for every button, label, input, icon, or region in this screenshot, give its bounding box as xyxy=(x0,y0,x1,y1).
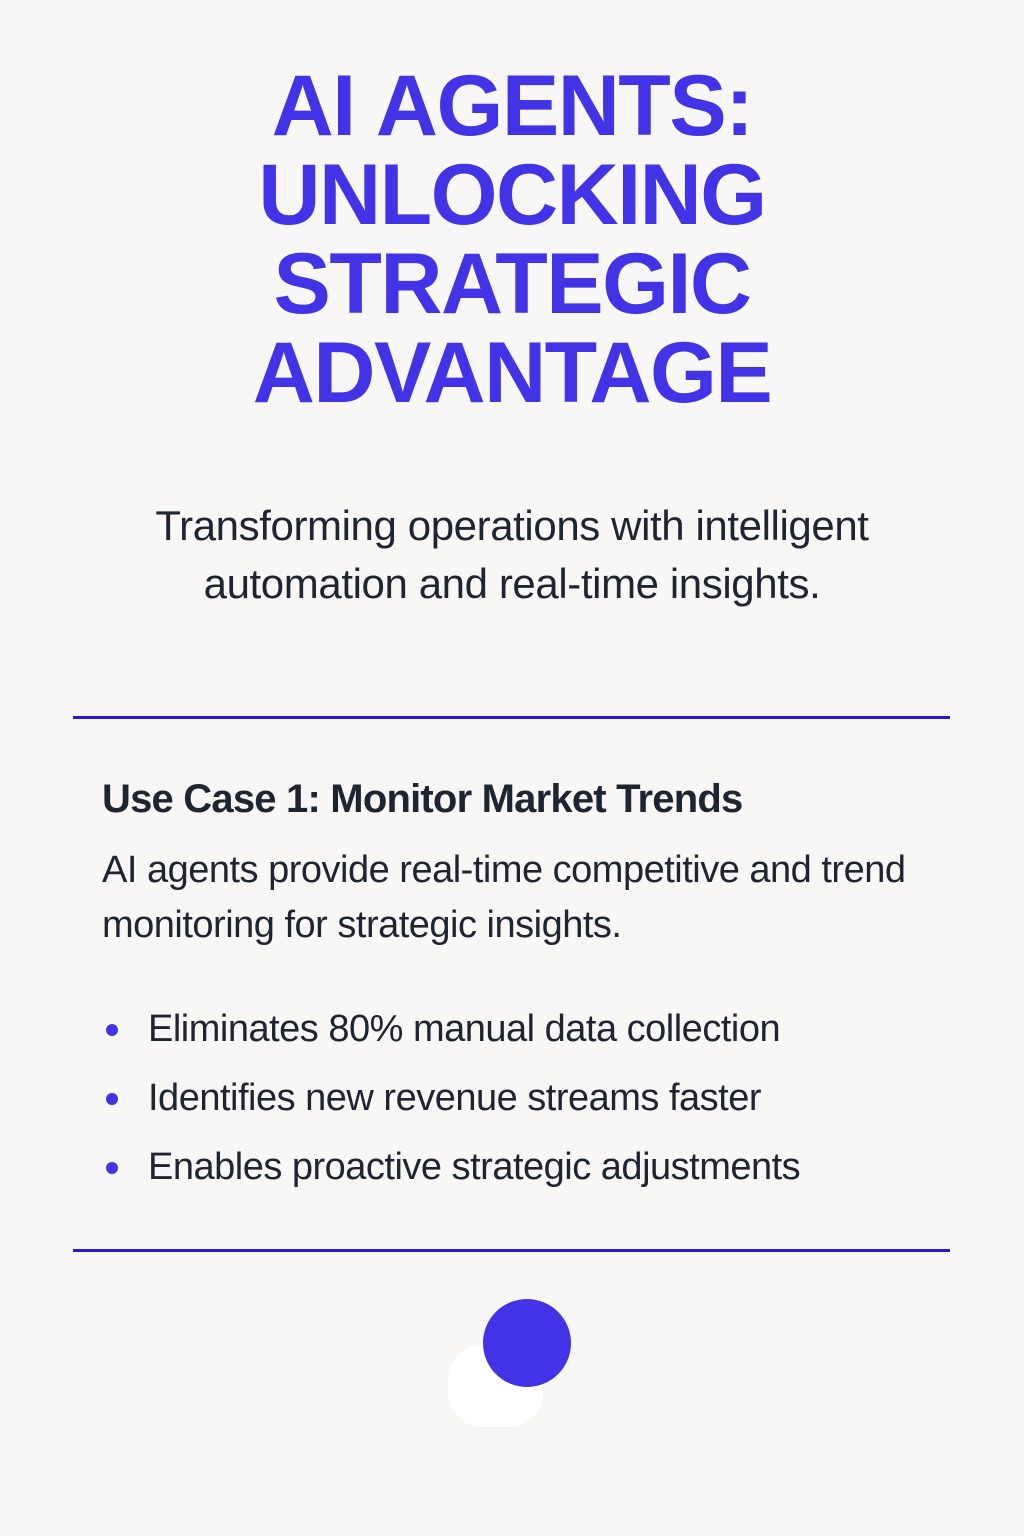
list-item-label: Eliminates 80% manual data collection xyxy=(148,1008,780,1050)
decorative-mark xyxy=(440,1290,590,1440)
divider-bottom xyxy=(73,1249,950,1252)
bullet-dot-icon xyxy=(106,1024,118,1036)
bullet-dot-icon xyxy=(106,1093,118,1105)
use-case-description: AI agents provide real-time competitive … xyxy=(102,843,947,953)
blue-circle-icon xyxy=(483,1299,571,1387)
title-block: AI AGENTS: UNLOCKING STRATEGIC ADVANTAGE xyxy=(0,62,1024,418)
list-item: Identifies new revenue streams faster xyxy=(102,1064,962,1133)
page-subtitle: Transforming operations with intelligent… xyxy=(115,497,909,613)
page-title: AI AGENTS: UNLOCKING STRATEGIC ADVANTAGE xyxy=(100,62,924,418)
benefit-bullet-list: Eliminates 80% manual data collection Id… xyxy=(102,995,962,1202)
subtitle-block: Transforming operations with intelligent… xyxy=(0,497,1024,613)
list-item: Eliminates 80% manual data collection xyxy=(102,995,962,1064)
infographic-slide: AI AGENTS: UNLOCKING STRATEGIC ADVANTAGE… xyxy=(0,0,1024,1536)
list-item-label: Identifies new revenue streams faster xyxy=(148,1077,761,1119)
list-item-label: Enables proactive strategic adjustments xyxy=(148,1146,800,1188)
list-item: Enables proactive strategic adjustments xyxy=(102,1133,962,1202)
divider-top xyxy=(73,716,950,719)
bullet-dot-icon xyxy=(106,1162,118,1174)
use-case-heading: Use Case 1: Monitor Market Trends xyxy=(102,775,952,823)
use-case-section: Use Case 1: Monitor Market Trends AI age… xyxy=(102,775,952,953)
